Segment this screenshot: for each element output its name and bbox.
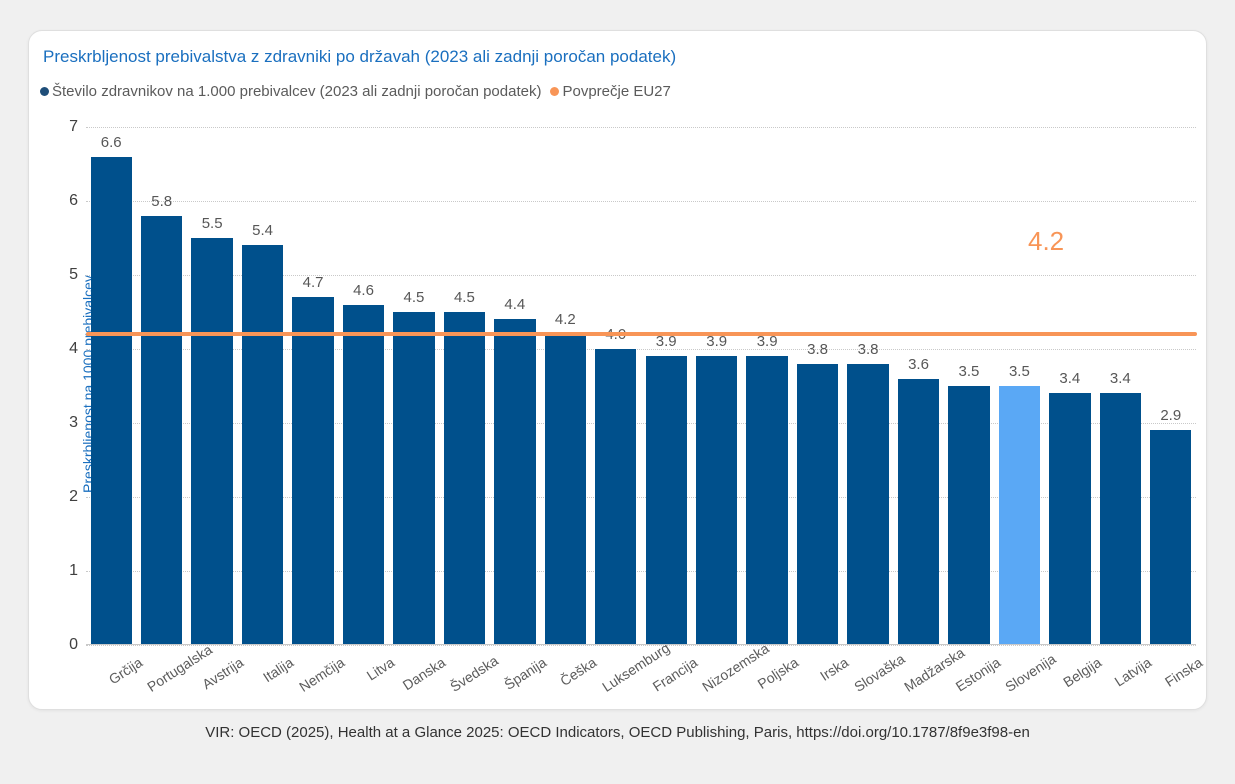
y-axis-tick-label: 1	[52, 562, 78, 580]
bar[interactable]	[646, 356, 687, 645]
bar-group: 4.2Češka	[540, 127, 590, 645]
bar-value-label: 2.9	[1146, 407, 1196, 424]
x-axis-tick-label: Španija	[498, 654, 549, 695]
bar[interactable]	[1100, 393, 1141, 645]
bar[interactable]	[191, 238, 232, 645]
bar-group: 3.8Irska	[792, 127, 842, 645]
x-axis-tick-label: Nizozemska	[700, 654, 751, 695]
x-axis-tick-label: Irska	[800, 654, 851, 695]
bar-group: 3.4Belgija	[1045, 127, 1095, 645]
x-axis-line	[86, 644, 1196, 645]
x-axis-tick-label: Litva	[346, 654, 397, 695]
bar-value-label: 4.4	[490, 296, 540, 313]
bar[interactable]	[696, 356, 737, 645]
y-axis-tick-label: 5	[52, 266, 78, 284]
x-axis-tick-label: Češka	[548, 654, 599, 695]
bar[interactable]	[393, 312, 434, 645]
bar[interactable]	[595, 349, 636, 645]
bar-group: 4.4Španija	[490, 127, 540, 645]
bar-group: 4.7Nemčija	[288, 127, 338, 645]
y-axis-tick-label: 6	[52, 192, 78, 210]
bar-group: 4.0Luksemburg	[591, 127, 641, 645]
x-axis-tick-label: Švedska	[447, 654, 498, 695]
x-axis-tick-label: Nemčija	[296, 654, 347, 695]
bar-group: 3.8Slovaška	[843, 127, 893, 645]
bar-group: 3.5Slovenija	[994, 127, 1044, 645]
bar[interactable]	[242, 245, 283, 645]
bar[interactable]	[545, 334, 586, 645]
bar-value-label: 5.8	[136, 193, 186, 210]
y-axis-tick-label: 0	[52, 636, 78, 654]
chart-card: Preskrbljenost prebivalstva z zdravniki …	[28, 30, 1207, 710]
plot-area: Preskrbljenost na 1000 prebivalcev 76543…	[86, 127, 1196, 645]
bar-group: 5.5Avstrija	[187, 127, 237, 645]
bar-group: 3.4Latvija	[1095, 127, 1145, 645]
chart-page: Preskrbljenost prebivalstva z zdravniki …	[0, 0, 1235, 784]
bars-layer: 6.6Grčija5.8Portugalska5.5Avstrija5.4Ita…	[86, 127, 1196, 645]
bar-group: 3.9Poljska	[742, 127, 792, 645]
x-axis-tick-label: Luksemburg	[599, 654, 650, 695]
x-axis-tick-label: Finska	[1154, 654, 1205, 695]
bar-group: 3.9Nizozemska	[691, 127, 741, 645]
source-note: VIR: OECD (2025), Health at a Glance 202…	[0, 724, 1235, 741]
eu27-average-line	[86, 332, 1197, 336]
bar-value-label: 4.6	[338, 282, 388, 299]
x-axis-tick-label: Italija	[245, 654, 296, 695]
bar[interactable]	[898, 379, 939, 645]
x-axis-tick-label: Danska	[397, 654, 448, 695]
bar[interactable]	[141, 216, 182, 645]
bar[interactable]	[444, 312, 485, 645]
bar-group: 3.9Francija	[641, 127, 691, 645]
x-axis-tick-label: Latvija	[1103, 654, 1154, 695]
bar-value-label: 3.6	[893, 356, 943, 373]
bar-value-label: 3.8	[843, 341, 893, 358]
bar-value-label: 4.5	[389, 289, 439, 306]
bar-group: 4.5Danska	[389, 127, 439, 645]
x-axis-tick-label: Madžarska	[901, 654, 952, 695]
plot-wrapper: Preskrbljenost na 1000 prebivalcev 76543…	[29, 31, 1207, 710]
eu27-average-annotation: 4.2	[1028, 226, 1064, 257]
bar[interactable]	[847, 364, 888, 645]
bar[interactable]	[1150, 430, 1191, 645]
bar-group: 5.8Portugalska	[136, 127, 186, 645]
x-axis-tick-label: Belgija	[1053, 654, 1104, 695]
bar[interactable]	[797, 364, 838, 645]
bar-group: 4.6Litva	[338, 127, 388, 645]
bar[interactable]	[948, 386, 989, 645]
gridline	[86, 645, 1196, 646]
x-axis-tick-label: Portugalska	[145, 654, 196, 695]
bar-value-label: 4.5	[439, 289, 489, 306]
bar-value-label: 3.5	[944, 363, 994, 380]
bar[interactable]	[746, 356, 787, 645]
bar-group: 3.6Madžarska	[893, 127, 943, 645]
bar-value-label: 3.8	[792, 341, 842, 358]
bar-value-label: 6.6	[86, 134, 136, 151]
bar[interactable]	[343, 305, 384, 645]
bar-group: 6.6Grčija	[86, 127, 136, 645]
y-axis-tick-label: 3	[52, 414, 78, 432]
bar-value-label: 3.5	[994, 363, 1044, 380]
bar[interactable]	[999, 386, 1040, 645]
bar-value-label: 4.7	[288, 274, 338, 291]
y-axis-tick-label: 4	[52, 340, 78, 358]
x-axis-tick-label: Slovenija	[1002, 654, 1053, 695]
bar-group: 2.9Finska	[1146, 127, 1196, 645]
bar-group: 4.5Švedska	[439, 127, 489, 645]
bar[interactable]	[494, 319, 535, 645]
bar-group: 5.4Italija	[237, 127, 287, 645]
bar-value-label: 5.4	[237, 222, 287, 239]
bar-value-label: 3.4	[1095, 370, 1145, 387]
y-axis-tick-label: 7	[52, 118, 78, 136]
bar[interactable]	[292, 297, 333, 645]
x-axis-tick-label: Slovaška	[851, 654, 902, 695]
y-axis-tick-label: 2	[52, 488, 78, 506]
bar-value-label: 3.4	[1045, 370, 1095, 387]
bar-group: 3.5Estonija	[944, 127, 994, 645]
bar[interactable]	[1049, 393, 1090, 645]
bar-value-label: 4.2	[540, 311, 590, 328]
bar-value-label: 5.5	[187, 215, 237, 232]
x-axis-tick-label: Grčija	[94, 654, 145, 695]
bar[interactable]	[91, 157, 132, 645]
